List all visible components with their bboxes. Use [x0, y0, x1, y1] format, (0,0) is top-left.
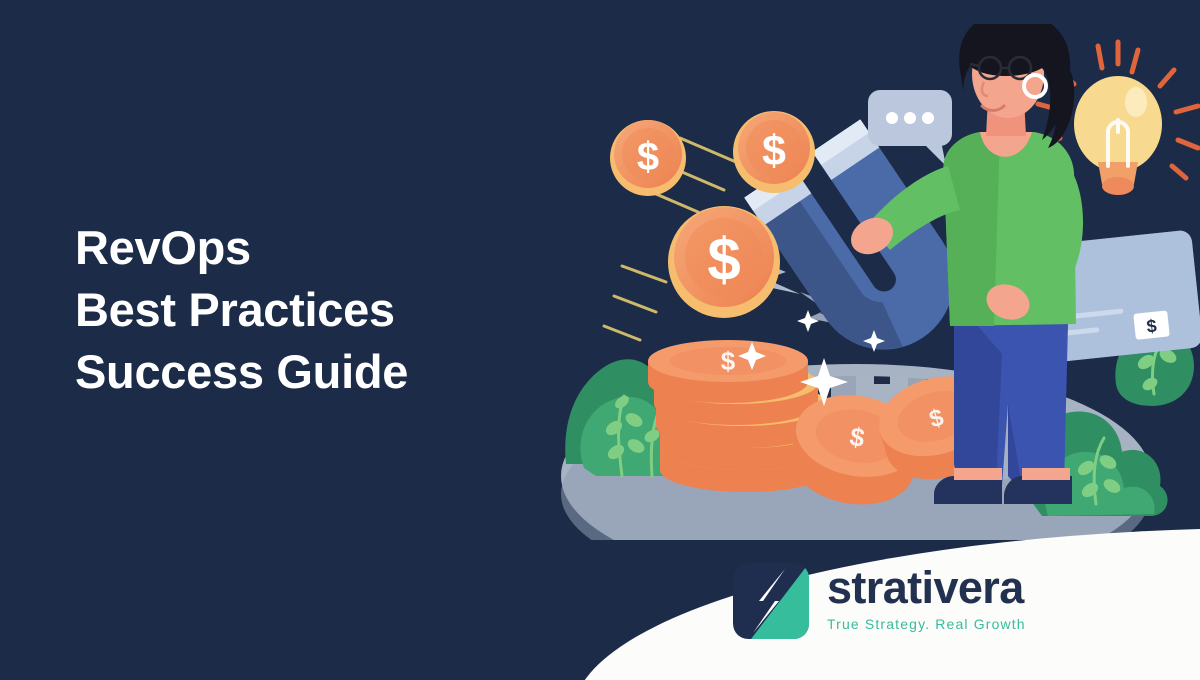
- logo-tagline: True Strategy. Real Growth: [827, 614, 1026, 634]
- logo-mark-icon: [733, 563, 809, 639]
- svg-text:$: $: [707, 226, 740, 293]
- brand-logo[interactable]: strativera True Strategy. Real Growth: [733, 563, 1026, 639]
- flying-coin: $: [668, 206, 780, 318]
- flying-coin: $: [610, 120, 686, 196]
- svg-text:$: $: [637, 135, 659, 179]
- page-title: RevOps Best Practices Success Guide: [75, 217, 555, 403]
- shoe: [1004, 476, 1072, 504]
- svg-text:$: $: [721, 346, 736, 376]
- marketing-banner: $: [0, 0, 1200, 680]
- flying-coin: $: [733, 111, 815, 193]
- svg-text:$: $: [762, 127, 786, 175]
- chat-bubble-dots: [886, 112, 934, 124]
- logo-wordmark: strativera: [827, 565, 1026, 611]
- svg-text:$: $: [1146, 316, 1158, 337]
- logo-text: strativera True Strategy. Real Growth: [827, 565, 1026, 638]
- hero-illustration: $: [556, 24, 1200, 540]
- card-badge: $: [1133, 310, 1170, 339]
- shoe: [934, 476, 1002, 504]
